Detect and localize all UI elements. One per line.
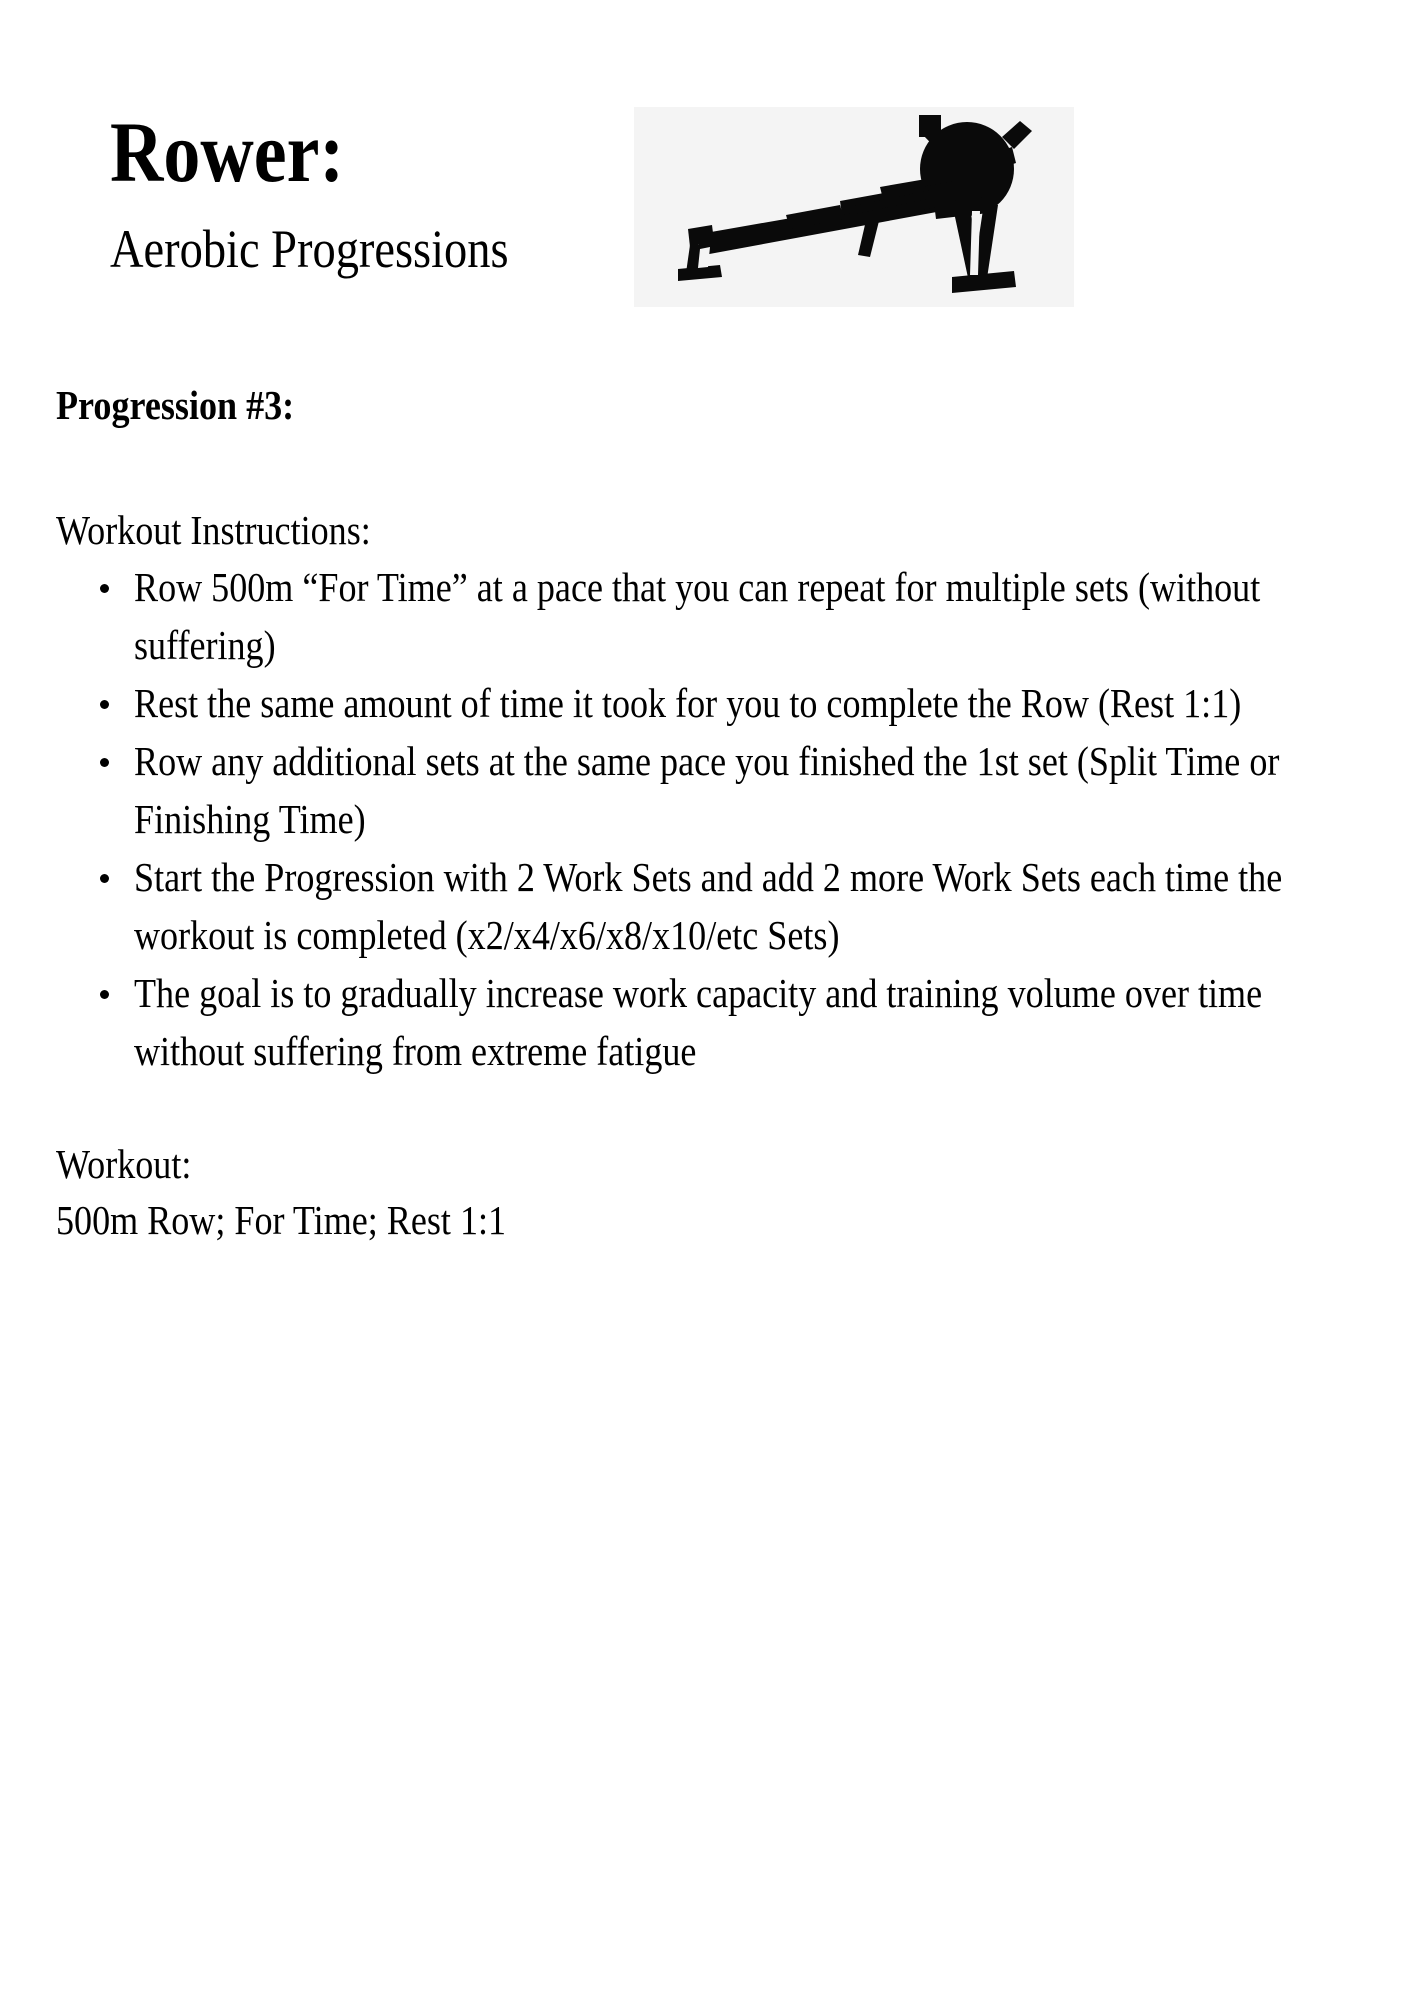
rowing-machine-image bbox=[634, 107, 1074, 307]
workout-label: Workout: bbox=[56, 1136, 1209, 1192]
list-item-text: Rest the same amount of time it took for… bbox=[134, 674, 1364, 732]
spacer bbox=[56, 1080, 1366, 1136]
document-body: Progression #3: Workout Instructions: Ro… bbox=[56, 380, 1366, 1248]
list-item-text: Start the Progression with 2 Work Sets a… bbox=[134, 848, 1364, 964]
list-item: Rest the same amount of time it took for… bbox=[56, 674, 1364, 732]
workout-section: Workout: 500m Row; For Time; Rest 1:1 bbox=[56, 1136, 1366, 1248]
list-item: Start the Progression with 2 Work Sets a… bbox=[56, 848, 1364, 964]
document-header: Rower: Aerobic Progressions bbox=[0, 0, 1414, 330]
page-title: Rower: bbox=[110, 104, 557, 200]
workout-instructions-label: Workout Instructions: bbox=[56, 502, 1209, 558]
spacer bbox=[56, 430, 1366, 502]
page-subtitle: Aerobic Progressions bbox=[110, 200, 557, 280]
workout-detail: 500m Row; For Time; Rest 1:1 bbox=[56, 1192, 1209, 1248]
document-page: Rower: Aerobic Progressions bbox=[0, 0, 1414, 2000]
progression-heading: Progression #3: bbox=[56, 380, 1209, 430]
title-block: Rower: Aerobic Progressions bbox=[110, 104, 630, 280]
list-item: Row 500m “For Time” at a pace that you c… bbox=[56, 558, 1364, 674]
rowing-machine-silhouette-icon bbox=[634, 107, 1074, 307]
workout-instructions-list: Row 500m “For Time” at a pace that you c… bbox=[56, 558, 1366, 1080]
list-item-text: Row any additional sets at the same pace… bbox=[134, 732, 1364, 848]
list-item: The goal is to gradually increase work c… bbox=[56, 964, 1364, 1080]
list-item: Row any additional sets at the same pace… bbox=[56, 732, 1364, 848]
list-item-text: The goal is to gradually increase work c… bbox=[134, 964, 1364, 1080]
list-item-text: Row 500m “For Time” at a pace that you c… bbox=[134, 558, 1364, 674]
